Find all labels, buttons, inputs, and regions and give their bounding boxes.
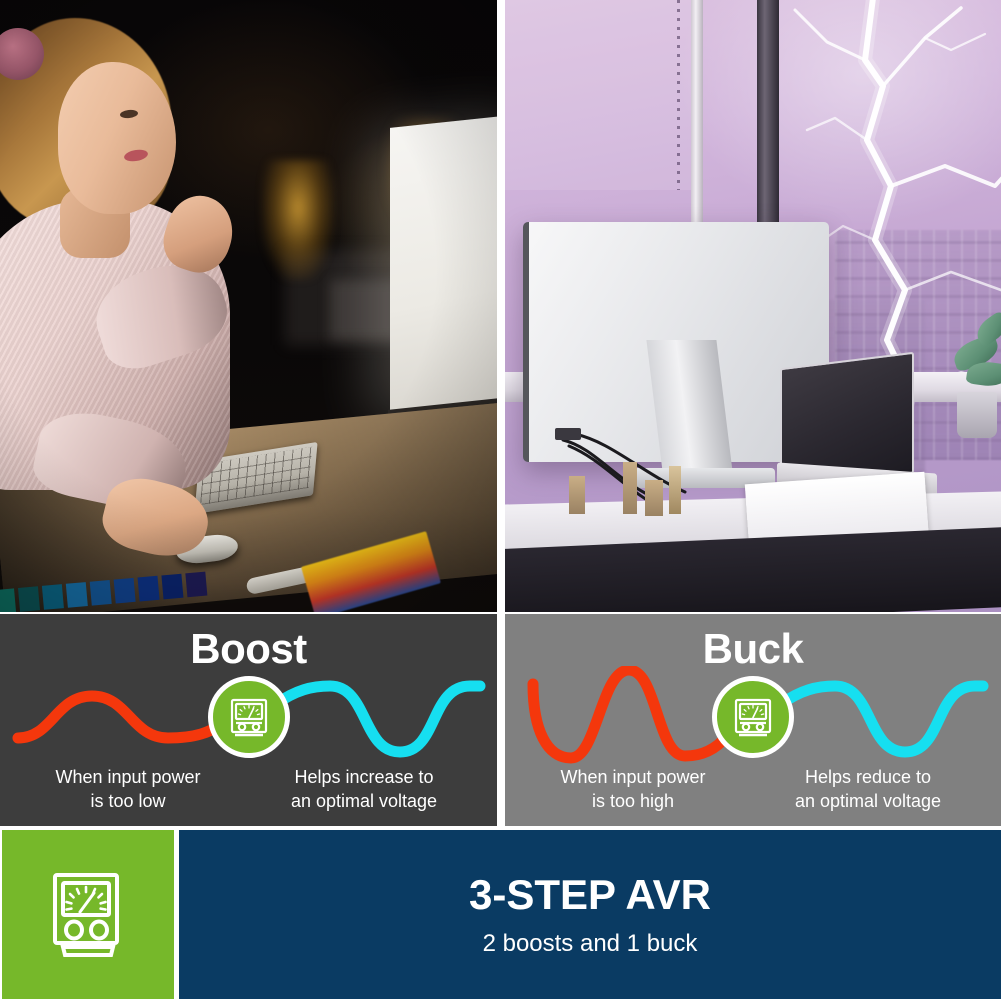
boost-output-caption: Helps increase to an optimal voltage [249,766,479,814]
buck-meter-badge [712,676,794,758]
banner-text-block: 3-STEP AVR 2 boosts and 1 buck [179,830,1001,999]
blind-cord [677,0,680,190]
voltage-meter-icon [732,696,774,738]
buck-panel: Buck [505,614,1001,826]
buck-input-caption: When input power is too high [523,766,743,814]
voltage-meter-icon [49,871,127,959]
desk-object [623,462,637,514]
boost-panel: Boost [0,614,497,826]
infographic-canvas: Boost [0,0,1001,1001]
buck-output-caption: Helps reduce to an optimal voltage [753,766,983,814]
banner-icon-tile [2,830,174,999]
voltage-meter-icon [228,696,270,738]
photo-boost-scenario [0,0,497,612]
plant-pot [957,392,997,438]
boost-meter-badge [208,676,290,758]
desk-object [569,476,585,514]
boost-input-caption: When input power is too low [18,766,238,814]
pencil [669,466,681,514]
window-blind [505,0,697,190]
banner-title: 3-STEP AVR [469,873,711,917]
photo-buck-scenario [505,0,1001,612]
buck-title: Buck [505,628,1001,670]
banner-subtitle: 2 boosts and 1 buck [483,932,698,956]
desk-object [645,480,663,516]
photo-vignette [0,0,497,612]
boost-title: Boost [0,628,497,670]
